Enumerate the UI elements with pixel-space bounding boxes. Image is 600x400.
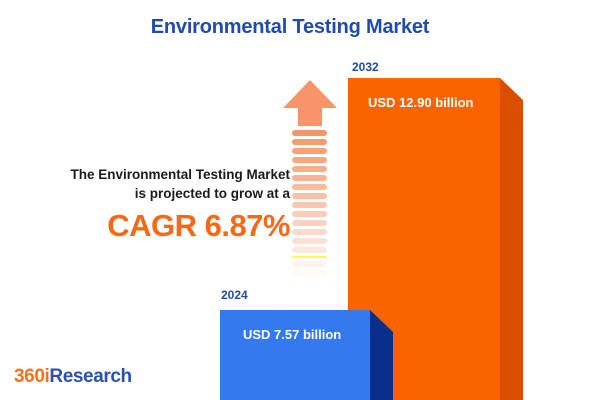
caption-block: The Environmental Testing Market is proj… — [14, 165, 290, 243]
growth-arrow-graphic — [282, 78, 338, 293]
bar-2032-year-label: 2032 — [352, 60, 379, 74]
arrow-stripes — [292, 130, 327, 292]
arrow-stripe — [292, 238, 327, 244]
arrow-stripe — [292, 256, 327, 258]
bar-2024-front-face — [220, 310, 370, 400]
bar-2032-side-face — [500, 78, 523, 400]
arrow-stripe — [292, 184, 327, 190]
page-title: Environmental Testing Market — [0, 16, 580, 39]
infographic-canvas: Environmental Testing Market The Environ… — [0, 0, 600, 400]
arrow-stripe — [292, 279, 327, 285]
arrow-stripe — [292, 247, 327, 253]
arrow-stripe — [292, 157, 327, 163]
bar-2024-year-label: 2024 — [221, 288, 248, 302]
arrow-stripe — [292, 148, 327, 154]
bar-2032-value-label: USD 12.90 billion — [368, 95, 473, 110]
logo-text-blue: Research — [49, 366, 131, 387]
arrow-stripe — [292, 270, 327, 276]
arrow-stripe — [292, 166, 327, 172]
bar-2024-value-label: USD 7.57 billion — [243, 327, 341, 342]
logo-text-orange: 360i — [14, 366, 49, 387]
cagr-value: CAGR 6.87% — [14, 209, 290, 243]
arrow-stripe — [292, 130, 327, 136]
arrow-stripe — [292, 202, 327, 208]
brand-logo: 360iResearch — [14, 366, 132, 388]
arrow-stripe — [292, 229, 327, 235]
caption-line-1: The Environmental Testing Market — [14, 165, 290, 184]
arrow-stripe — [292, 261, 327, 267]
bar-2024 — [220, 310, 393, 400]
arrow-stripe — [292, 139, 327, 145]
arrow-up-icon — [282, 78, 338, 128]
arrow-stripe — [292, 175, 327, 181]
bar-2024-side-face — [370, 310, 393, 400]
arrow-stripe — [292, 193, 327, 199]
caption-line-2: is projected to grow at a — [14, 184, 290, 203]
arrow-stripe — [292, 211, 327, 217]
arrow-stripe — [292, 220, 327, 226]
